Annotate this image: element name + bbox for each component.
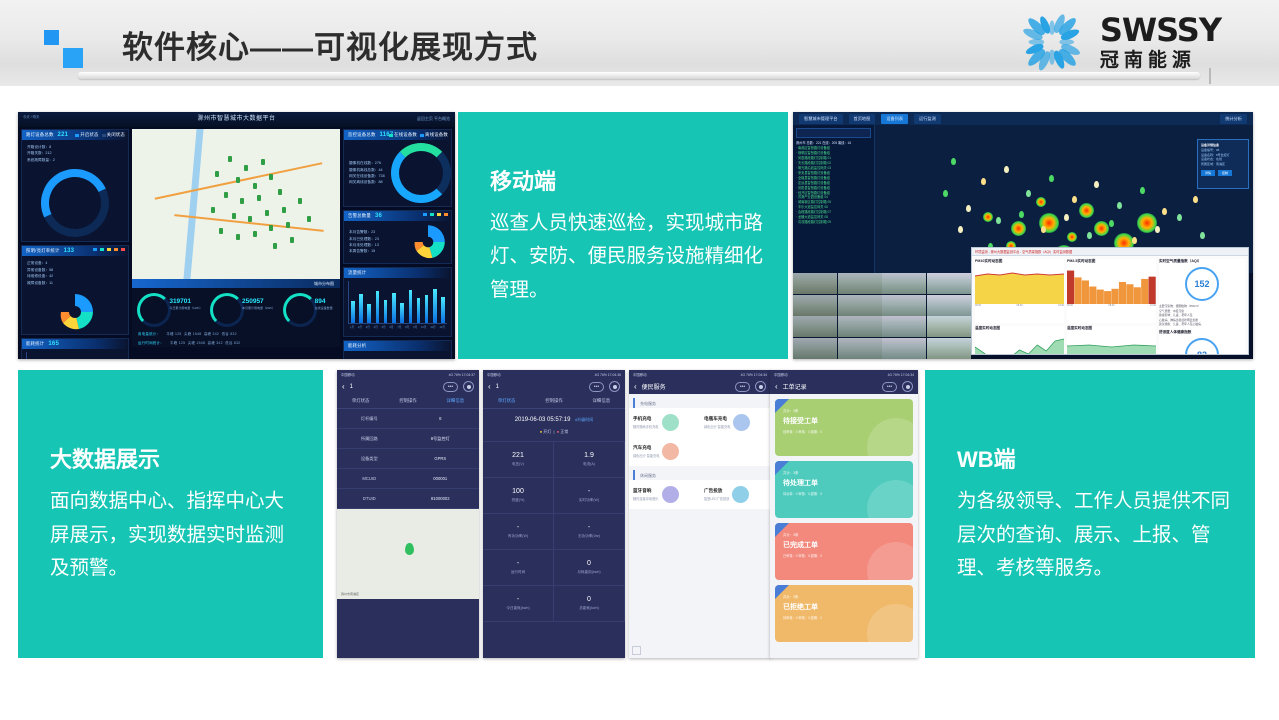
service-desc: 随时随地手机充电	[633, 424, 659, 429]
tick: 08:00	[1109, 304, 1115, 307]
device-search-input[interactable]	[796, 128, 871, 138]
pm25-bar	[1074, 277, 1081, 304]
metric-cell: -有功功率(W)	[483, 514, 554, 550]
run-item: 低谷 832	[222, 332, 237, 336]
card-flow-stats: 流量统计 1月2月3月4月5月6月7月8月9月10月11月12月	[343, 267, 452, 337]
map-river	[184, 129, 204, 279]
timestamp-value: 2019-06-03 05:57:19	[515, 417, 571, 423]
map-marker-icon[interactable]	[1109, 220, 1114, 227]
chart-axis: 00:00 08:00 16:00	[975, 304, 1064, 307]
dashboard-right-column: 监控设备总数 1167 在线设备数 离线设备数 摄像机在线数：276 摄像机离线…	[343, 129, 452, 357]
pm25-bar	[1097, 290, 1104, 304]
map-marker-icon[interactable]	[1087, 232, 1092, 239]
map-pin-icon	[273, 243, 277, 249]
card-stats: 开箱设计数：8 开箱关数：212 系统故障数量：2	[22, 140, 128, 167]
tab-detail[interactable]: 详细信息	[432, 394, 479, 408]
target-icon[interactable]	[463, 381, 474, 392]
camera-feed[interactable]	[838, 338, 882, 359]
target-icon[interactable]	[902, 381, 913, 392]
row-value: 81000002	[402, 489, 479, 508]
aqi-panel: 实时空气质量指数（AQI） 152 主要污染物：细颗粒物（PM2.5） 空气质量…	[1159, 259, 1245, 355]
card-label: 能耗分析	[348, 343, 366, 349]
metric-label: 电流(A)	[583, 462, 595, 467]
temp-area-svg	[975, 333, 1064, 355]
slide-header: 软件核心——可视化展现方式 SWSSY 冠南能源	[0, 0, 1279, 86]
pm25-bar	[1134, 287, 1141, 304]
legend-item	[107, 248, 111, 251]
bar-tick: 8月	[405, 325, 409, 329]
rose-chart-svg	[49, 292, 101, 332]
more-icon[interactable]: •••	[589, 382, 604, 392]
legend-label: 离线设备数	[425, 132, 448, 138]
map-marker-icon[interactable]	[1177, 214, 1182, 221]
lamp-detail-table: 灯杆编号 8 所属回路 8号监控灯 设备类型 GPRS MCUID 000001…	[337, 409, 479, 509]
card-header: 能耗统计 165	[22, 339, 128, 349]
back-icon[interactable]: ‹	[342, 382, 345, 391]
legend-item	[121, 248, 125, 251]
card-body: 摄像机在线数：276 摄像机离线总数：44 网关在线设备数：738 网关离线设备…	[344, 140, 451, 206]
gauge-label: 在线设备数量	[315, 306, 333, 310]
service-text: 手机充电 随时随地手机充电	[633, 416, 659, 429]
phone-citizen-service: 中国移动 4G 76% 17:04:34 ‹ 便民服务 ••• 充电服务 手机充…	[629, 370, 771, 658]
metric-label: 运行时间	[511, 570, 525, 575]
card-header: 能耗分析	[344, 341, 451, 351]
map-pin-icon	[228, 156, 232, 162]
gauge-value-block: 894 在线设备数量	[315, 298, 333, 310]
card-value: 165	[48, 341, 59, 347]
phone-nav-bar: ‹ 1 •••	[483, 379, 625, 394]
map-marker-icon[interactable]	[951, 158, 956, 165]
nav-item-monitoring[interactable]: 运行监测	[914, 114, 941, 124]
target-icon[interactable]	[755, 381, 766, 392]
status-carrier: 中国移动	[487, 372, 501, 377]
environment-monitor-window: 环境监测 - 滁州大数据监测平台 - 空气质量指数（AQI）实时监测数据 PM1…	[971, 247, 1249, 355]
card-legend	[93, 248, 125, 251]
map-marker-icon[interactable]	[943, 190, 948, 197]
service-name: 蓝牙音响	[633, 488, 659, 494]
camera-feed[interactable]	[882, 338, 926, 359]
bar-tick: 9月	[413, 325, 417, 329]
map-pin-icon	[278, 189, 282, 195]
camera-feed[interactable]	[793, 273, 837, 294]
work-order-count: 共计：3条	[783, 594, 905, 599]
status-timestamp-block: 2019-06-03 05:57:19 #升级时间 ● 开灯 | ● 正常	[483, 409, 625, 442]
bar-tick: 5月	[382, 325, 386, 329]
card-label: 照明/亮灯率统计	[26, 248, 60, 254]
heatmap-spot	[983, 212, 993, 222]
heatmap-spot	[1011, 221, 1026, 236]
row-key: 灯杆编号	[337, 409, 402, 428]
card-legend	[423, 213, 448, 216]
map-marker-icon[interactable]	[1200, 232, 1205, 239]
nav-item-map[interactable]: 首页地图	[849, 114, 876, 124]
pm25-bar	[1141, 279, 1148, 304]
map-marker-icon[interactable]	[1140, 187, 1145, 194]
map-marker-icon[interactable]	[1193, 196, 1198, 203]
camera-feed[interactable]	[838, 273, 882, 294]
lamp-state-row: ● 开灯 | ● 正常	[483, 429, 625, 435]
map-marker-icon[interactable]	[958, 226, 963, 233]
map-pin-icon	[244, 165, 248, 171]
service-name: 广告投放	[704, 488, 729, 494]
map-marker-icon[interactable]	[1064, 214, 1069, 221]
block-web-inner: WB端 为各级领导、工作人员提供不同层次的查询、展示、上报、管理、考核等服务。	[957, 442, 1233, 586]
legend-item	[444, 213, 448, 216]
table-row: 灯杆编号 8	[337, 409, 479, 429]
metric-label: 无功功率(Var)	[578, 534, 600, 539]
legend-item: 离线设备数	[420, 132, 448, 138]
pm25-bar	[1082, 280, 1089, 304]
heatmap-spot	[1036, 197, 1046, 207]
work-order-count: 共计：3条	[783, 408, 905, 413]
target-icon[interactable]	[609, 381, 620, 392]
heatmap-spot	[1067, 232, 1077, 242]
metric-value: -	[517, 560, 519, 567]
lamp-donut-chart	[31, 160, 118, 247]
gauge-label: 今日累计用电量（kWh）	[169, 306, 202, 310]
service-ebike-charging[interactable]: 电瓶车充电 绿色出行 智能充电	[700, 408, 771, 437]
ribbon-corner	[775, 461, 789, 475]
metric-value: -	[517, 596, 519, 603]
camera-feed[interactable]	[882, 316, 926, 337]
camera-feed[interactable]	[882, 273, 926, 294]
timestamp-row: 2019-06-03 05:57:19 #升级时间	[483, 417, 625, 423]
service-desc: 智慧LED广告投放	[704, 496, 729, 501]
map-band: 城市分布图	[132, 279, 340, 288]
work-order-card[interactable]: 共计：3条待处理工单待派单：0 审核：0 超期：0	[775, 461, 913, 518]
service-ad-display[interactable]: 广告投放 智慧LED广告投放	[700, 480, 771, 509]
chart-axis: 00:00 08:00 16:00	[1067, 304, 1156, 307]
map-pin-icon	[282, 207, 286, 213]
web-body: 滁州市 总数：221 在线：205 离线：16 · 南谯区智慧路灯设备组· 琅琊…	[793, 125, 1253, 359]
card-header: 告警总数量 36	[344, 211, 451, 221]
card-label: 告警总数量	[348, 213, 371, 219]
map-pin-icon	[307, 216, 311, 222]
car-charge-icon	[662, 443, 679, 460]
map-pin-icon	[211, 207, 215, 213]
map-band-label: 城市分布图	[314, 281, 334, 287]
company-logo: SWSSY 冠南能源	[1012, 8, 1221, 76]
env-chart-grid: PM10实时动态图 00:00 08:00 16:00	[972, 256, 1248, 355]
phone-nav-bar: ‹ 工单记录 •••	[770, 379, 918, 394]
phone-work-orders: 中国移动 4G 76% 17:04:34 ‹ 工单记录 ••• 共计：3条待接受…	[770, 370, 918, 658]
run-row: 用电量统计： 平峰 125 尖峰 1548 高峰 342 低谷 832	[132, 329, 340, 338]
tab-control[interactable]: 控制操作	[384, 394, 431, 408]
monitor-donut-chart	[391, 143, 451, 203]
back-icon[interactable]: ‹	[488, 382, 491, 391]
metric-label: 月耗能用(kwh)	[577, 570, 600, 575]
block-mobile-title: 移动端	[490, 164, 766, 196]
bar	[359, 294, 363, 323]
block-bigdata: 大数据展示 面向数据中心、指挥中心大屏展示，实现数据实时监测及预警。	[18, 370, 323, 658]
run-item: 平峰 125	[166, 332, 181, 336]
run-item: 低谷 832	[225, 341, 240, 345]
card-header: 监控设备总数 1167 在线设备数 离线设备数	[344, 130, 451, 140]
heatmap-spot	[1079, 203, 1094, 218]
gauge-value: 894	[315, 298, 333, 305]
map-marker-icon[interactable]	[1094, 181, 1099, 188]
aqi-value-ring: 152	[1185, 267, 1219, 301]
nav-item-analysis[interactable]: 统计分析	[1220, 114, 1247, 124]
chart-title: PM10实时动态图	[975, 259, 1064, 264]
map-marker-icon[interactable]	[966, 205, 971, 212]
phone-charge-icon	[662, 414, 679, 431]
map-marker-icon[interactable]	[1026, 190, 1031, 197]
gauge-label: 本月累计用电量（kWh）	[242, 306, 275, 310]
aqi-line: 建议措施：儿童、老年人及心脏病、	[1159, 322, 1245, 327]
run-item: 高峰 342	[208, 341, 223, 345]
legend-item	[423, 213, 427, 216]
energy-bar-chart: 1月2月3月4月5月6月7月8月9月10月11月12月	[22, 349, 128, 359]
bar-tick: 4月	[374, 325, 378, 329]
lamp-on-label: 开灯	[543, 429, 551, 434]
camera-feed[interactable]	[882, 295, 926, 316]
tick: 00:00	[975, 304, 981, 307]
map-marker-icon[interactable]	[1117, 202, 1122, 209]
map-location-label: 滁州市南谯区	[341, 592, 359, 596]
map-pin-icon	[269, 174, 273, 180]
pm25-bar	[1112, 289, 1119, 304]
ebike-charge-icon	[733, 414, 750, 431]
row-value: GPRS	[402, 449, 479, 468]
card-legend: 开启状态 关闭状态	[75, 132, 125, 138]
service-bluetooth-speaker[interactable]: 蓝牙音响 随时连接享用音乐	[629, 480, 700, 509]
stat-line: 系统故障数量：2	[27, 157, 123, 163]
popup-line: 所属区域：南谯区	[1201, 162, 1245, 167]
service-car-charging[interactable]: 汽车充电 绿色出行 智能充电	[629, 437, 700, 466]
card-energy-stats: 能耗统计 165 1月2月3月4月5月6月7月8月9月10月11月12月	[21, 338, 129, 359]
tab-lamp-status[interactable]: 单灯状态	[337, 394, 384, 408]
bar-axis-labels: 1月2月3月4月5月6月7月8月9月10月11月12月	[348, 324, 447, 329]
map-pin-icon	[224, 192, 228, 198]
comfort-title: 舒适度人体健康指数	[1159, 330, 1245, 335]
tick: 16:00	[1150, 304, 1156, 307]
service-text: 电瓶车充电 绿色出行 智能充电	[704, 416, 730, 429]
service-phone-charging[interactable]: 手机充电 随时随地手机充电	[629, 408, 700, 437]
metric-label: 今日能耗(kwh)	[506, 606, 529, 611]
bar	[384, 300, 388, 323]
camera-feed[interactable]	[927, 316, 971, 337]
more-icon[interactable]: •••	[882, 382, 897, 392]
bar-tick: 3月	[366, 325, 370, 329]
camera-feed[interactable]	[927, 338, 971, 359]
page-title: 软件核心——可视化展现方式	[122, 22, 538, 67]
status-indicators: 4G 76% 17:04:36	[595, 373, 621, 377]
pm25-bar	[1104, 291, 1111, 304]
legend-label: 开启状态	[80, 132, 98, 138]
legend-item: 关闭状态	[102, 132, 125, 138]
more-icon[interactable]: •••	[443, 382, 458, 392]
map-marker-icon[interactable]	[1072, 196, 1077, 203]
card-header: 路灯设备总数 221 开启状态 关闭状态	[22, 130, 128, 140]
camera-feed[interactable]	[927, 295, 971, 316]
bar	[441, 297, 445, 323]
bar-series	[26, 352, 124, 359]
stat-line: 故障设备数：11	[27, 280, 123, 286]
bar	[351, 301, 355, 323]
camera-feed[interactable]	[838, 295, 882, 316]
map-marker-icon[interactable]	[1004, 166, 1009, 173]
map-marker-icon[interactable]	[996, 217, 1001, 224]
card-stats: 摄像机在线数：276 摄像机离线总数：44 网关在线设备数：738 网关离线设备…	[344, 156, 391, 190]
tree-node[interactable]: · 清流路段路灯控制箱 09	[796, 220, 871, 225]
camera-feed[interactable]	[793, 316, 837, 337]
run-row-name: 用电量统计：	[138, 332, 160, 336]
run-row: 运行时间统计： 平峰 125 尖峰 1548 高峰 342 低谷 832	[132, 338, 340, 347]
phone-nav-bar: ‹ 便民服务 •••	[629, 379, 771, 394]
metric-value: 0	[587, 560, 591, 567]
run-item: 尖峰 1548	[184, 332, 201, 336]
metric-label: 有功功率(W)	[508, 534, 528, 539]
heatmap-spot	[1094, 221, 1109, 236]
legend-item: 开启状态	[75, 132, 98, 138]
map-marker-icon[interactable]	[1132, 237, 1137, 244]
dashboard-nav: 返回主页 平台概览	[417, 116, 450, 122]
metric-label: 电压(V)	[512, 462, 524, 467]
phone-screen-title: 便民服务	[642, 382, 666, 391]
map-marker-icon[interactable]	[1155, 226, 1160, 233]
work-order-card[interactable]: 共计：3条已完成工单已审核：0 审核：0 超期：0	[775, 523, 913, 580]
bulb-icon: ●	[540, 429, 542, 434]
metric-value: 221	[512, 452, 524, 459]
camera-feed[interactable]	[793, 338, 837, 359]
metric-cell: 221电压(V)	[483, 442, 554, 478]
gauge-ring	[137, 293, 171, 327]
work-order-count: 共计：3条	[783, 532, 905, 537]
phone-status-bar: 中国移动 4G 76% 17:04:34	[629, 370, 771, 379]
phone-status-bar: 中国移动 4G 76% 17:04:36	[483, 370, 625, 379]
pm25-bar-svg	[1067, 266, 1156, 304]
stat-line: 本周告警数：15	[349, 248, 400, 254]
dashboard-topbar: 今天 / 晴天 滁州市智慧城市大数据平台 返回主页 平台概览	[18, 112, 455, 127]
gauge-item: 894 在线设备数量	[283, 293, 335, 327]
ad-display-icon	[732, 486, 749, 503]
legend-label: 在线设备数	[394, 132, 417, 138]
map-marker-icon[interactable]	[1162, 208, 1167, 215]
map-pin-icon	[261, 159, 265, 165]
gauge-value: 250957	[242, 298, 275, 305]
pm25-bar	[1067, 271, 1074, 304]
logo-text: SWSSY 冠南能源	[1100, 14, 1221, 70]
lighting-rose-chart	[49, 292, 101, 332]
block-mobile: 移动端 巡查人员快速巡检，实现城市路灯、安防、便民服务设施精细化管理。	[458, 112, 788, 359]
gauge-ring	[210, 293, 244, 327]
header-decor-squares	[44, 30, 86, 68]
map-marker-icon[interactable]	[1019, 211, 1024, 218]
status-indicators: 4G 76% 17:04:34	[741, 373, 767, 377]
gauge-value-block: 250957 本月累计用电量（kWh）	[242, 298, 275, 310]
legend-item	[114, 248, 118, 251]
tab-lamp-status[interactable]: 单灯状态	[483, 394, 530, 408]
status-carrier: 中国移动	[633, 372, 647, 377]
section-heading-charging: 充电服务	[633, 398, 771, 408]
card-label: 监控设备总数	[348, 132, 376, 138]
card-stats: 本月告警数：23 本月已处理数：23 本月未处理数：13 本周告警数：15	[344, 225, 405, 259]
tab-detail[interactable]: 详细信息	[578, 394, 625, 408]
metric-label: 总能耗(kwh)	[579, 606, 599, 611]
status-carrier: 中国移动	[341, 372, 355, 377]
tab-control[interactable]: 控制操作	[530, 394, 577, 408]
pm25-bar	[1089, 287, 1096, 304]
bar	[425, 295, 429, 323]
web-top-nav: 智慧城市管理平台 首页地图 设备列表 运行监测 统计分析	[793, 112, 1253, 125]
map-marker-icon[interactable]	[981, 178, 986, 185]
block-web-title: WB端	[957, 442, 1233, 474]
camera-feed[interactable]	[793, 295, 837, 316]
block-bigdata-body: 面向数据中心、指挥中心大屏展示，实现数据实时监测及预警。	[50, 485, 301, 586]
bar-tick: 7月	[397, 325, 401, 329]
map-pin-icon	[257, 195, 261, 201]
bar	[433, 289, 437, 323]
legend-item	[100, 248, 104, 251]
work-order-card[interactable]: 共计：3条待接受工单经审核：0 审核：0 超期：0	[775, 399, 913, 456]
run-item: 平峰 125	[170, 341, 185, 345]
logo-cn-name: 冠南能源	[1100, 51, 1196, 70]
work-order-card[interactable]: 共计：3条已拒绝工单待审核：0 审核：0 超期：0	[775, 585, 913, 642]
humidity-area-svg	[1067, 333, 1156, 355]
bar-tick: 12月	[439, 325, 444, 329]
metric-cell: -无功功率(Var)	[554, 514, 625, 550]
water-droplet-icon	[1012, 9, 1092, 75]
map-pin-icon	[405, 543, 414, 555]
metric-cell: -今日能耗(kwh)	[483, 586, 554, 622]
map-pin-icon	[240, 198, 244, 204]
map-pin-icon	[248, 216, 252, 222]
card-value: 133	[64, 248, 75, 254]
dashboard-weather: 今天 / 晴天	[23, 114, 39, 119]
card-lighting-rate: 照明/亮灯率统计 133 正常设备：4 异常设备数：58 待维修设备：42 故障…	[21, 245, 129, 335]
service-text: 汽车充电 绿色出行 智能充电	[633, 445, 659, 458]
city-map	[132, 129, 340, 279]
card-body: 本月告警数：23 本月已处理数：23 本月未处理数：13 本周告警数：15	[344, 221, 451, 263]
back-icon[interactable]: ‹	[634, 382, 637, 391]
timestamp-note[interactable]: #升级时间	[575, 417, 593, 422]
service-name: 汽车充电	[633, 445, 659, 451]
popup-buttons: 详情 控制	[1201, 170, 1245, 176]
metric-cell: -实时功率(W)	[554, 478, 625, 514]
nav-item-platform[interactable]: 智慧城市管理平台	[799, 114, 843, 124]
popup-detail-button[interactable]: 详情	[1201, 170, 1215, 176]
decor-square-small	[44, 30, 59, 45]
nav-item-devices[interactable]: 设备列表	[881, 114, 908, 124]
flow-bar-chart: 1月2月3月4月5月6月7月8月9月10月11月12月	[344, 278, 451, 336]
card-label: 路灯设备总数	[26, 132, 54, 138]
metric-cell: 0总能耗(kwh)	[554, 586, 625, 622]
chart-temperature: 温度实时动态图 00:00 12:00 24:00	[975, 326, 1064, 355]
metric-value: -	[588, 488, 590, 495]
more-icon[interactable]: •••	[735, 382, 750, 392]
map-pin-icon	[265, 210, 269, 216]
logo-en-name: SWSSY	[1100, 14, 1221, 46]
chart-pm25: PM2.5实时动态图 00:00 08:00 16:00	[1067, 259, 1156, 323]
service-desc: 随时连接享用音乐	[633, 496, 659, 501]
card-monitor-total: 监控设备总数 1167 在线设备数 离线设备数 摄像机在线数：276 摄像机离线…	[343, 129, 452, 207]
phone-location-map[interactable]: 滁州市南谯区	[337, 509, 479, 599]
camera-feed[interactable]	[927, 273, 971, 294]
card-alarm-total: 告警总数量 36 本月告警数：23 本月已处理数：23 本月未处理数：13 本	[343, 210, 452, 264]
service-empty-slot	[700, 437, 771, 466]
env-window-title: 环境监测 - 滁州大数据监测平台 - 空气质量指数（AQI）实时监测数据	[972, 248, 1248, 256]
row-value: 8号监控灯	[402, 429, 479, 448]
back-icon[interactable]: ‹	[775, 382, 778, 391]
map-pin-icon	[290, 237, 294, 243]
camera-feed[interactable]	[838, 316, 882, 337]
chart-title: 温度实时动态图	[975, 326, 1064, 331]
row-key: DTUID	[337, 489, 402, 508]
map-marker-icon[interactable]	[1049, 175, 1054, 182]
popup-control-button[interactable]: 控制	[1218, 170, 1232, 176]
metric-cell: 100亮度(%)	[483, 478, 554, 514]
